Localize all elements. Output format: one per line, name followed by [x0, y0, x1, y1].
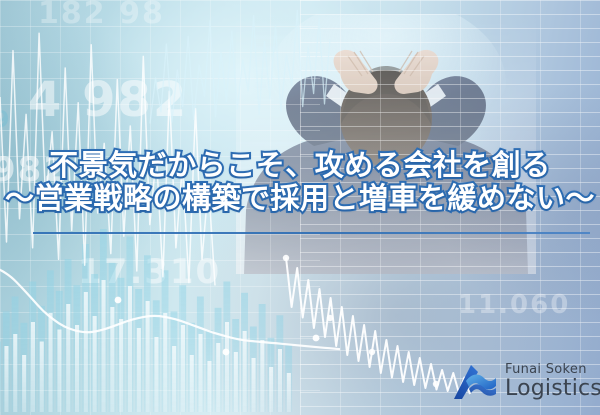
funai-soken-logistics-logo: Funai Soken Logistics [452, 362, 600, 400]
title-divider-rule [33, 232, 590, 234]
banner-image: 182 98 4 982 982 9 17.310 11.060 不景気だからこ… [0, 0, 600, 415]
logo-division-name: Logistics [505, 378, 600, 400]
declining-zigzag-line [286, 258, 470, 395]
logo-company-name: Funai Soken [505, 363, 600, 376]
title-block: 不景気だからこそ、攻める会社を創る 〜営業戦略の構築で採用と増車を緩めない〜 [0, 150, 600, 213]
title-line-2: 〜営業戦略の構築で採用と増車を緩めない〜 [0, 183, 600, 214]
funai-soken-wave-mark [452, 362, 498, 400]
zigzag-markers [283, 255, 439, 387]
logo-wordmark: Funai Soken Logistics [505, 363, 600, 400]
volatility-spike-line-secondary [150, 10, 330, 123]
title-line-1: 不景気だからこそ、攻める会社を創る [0, 150, 600, 181]
